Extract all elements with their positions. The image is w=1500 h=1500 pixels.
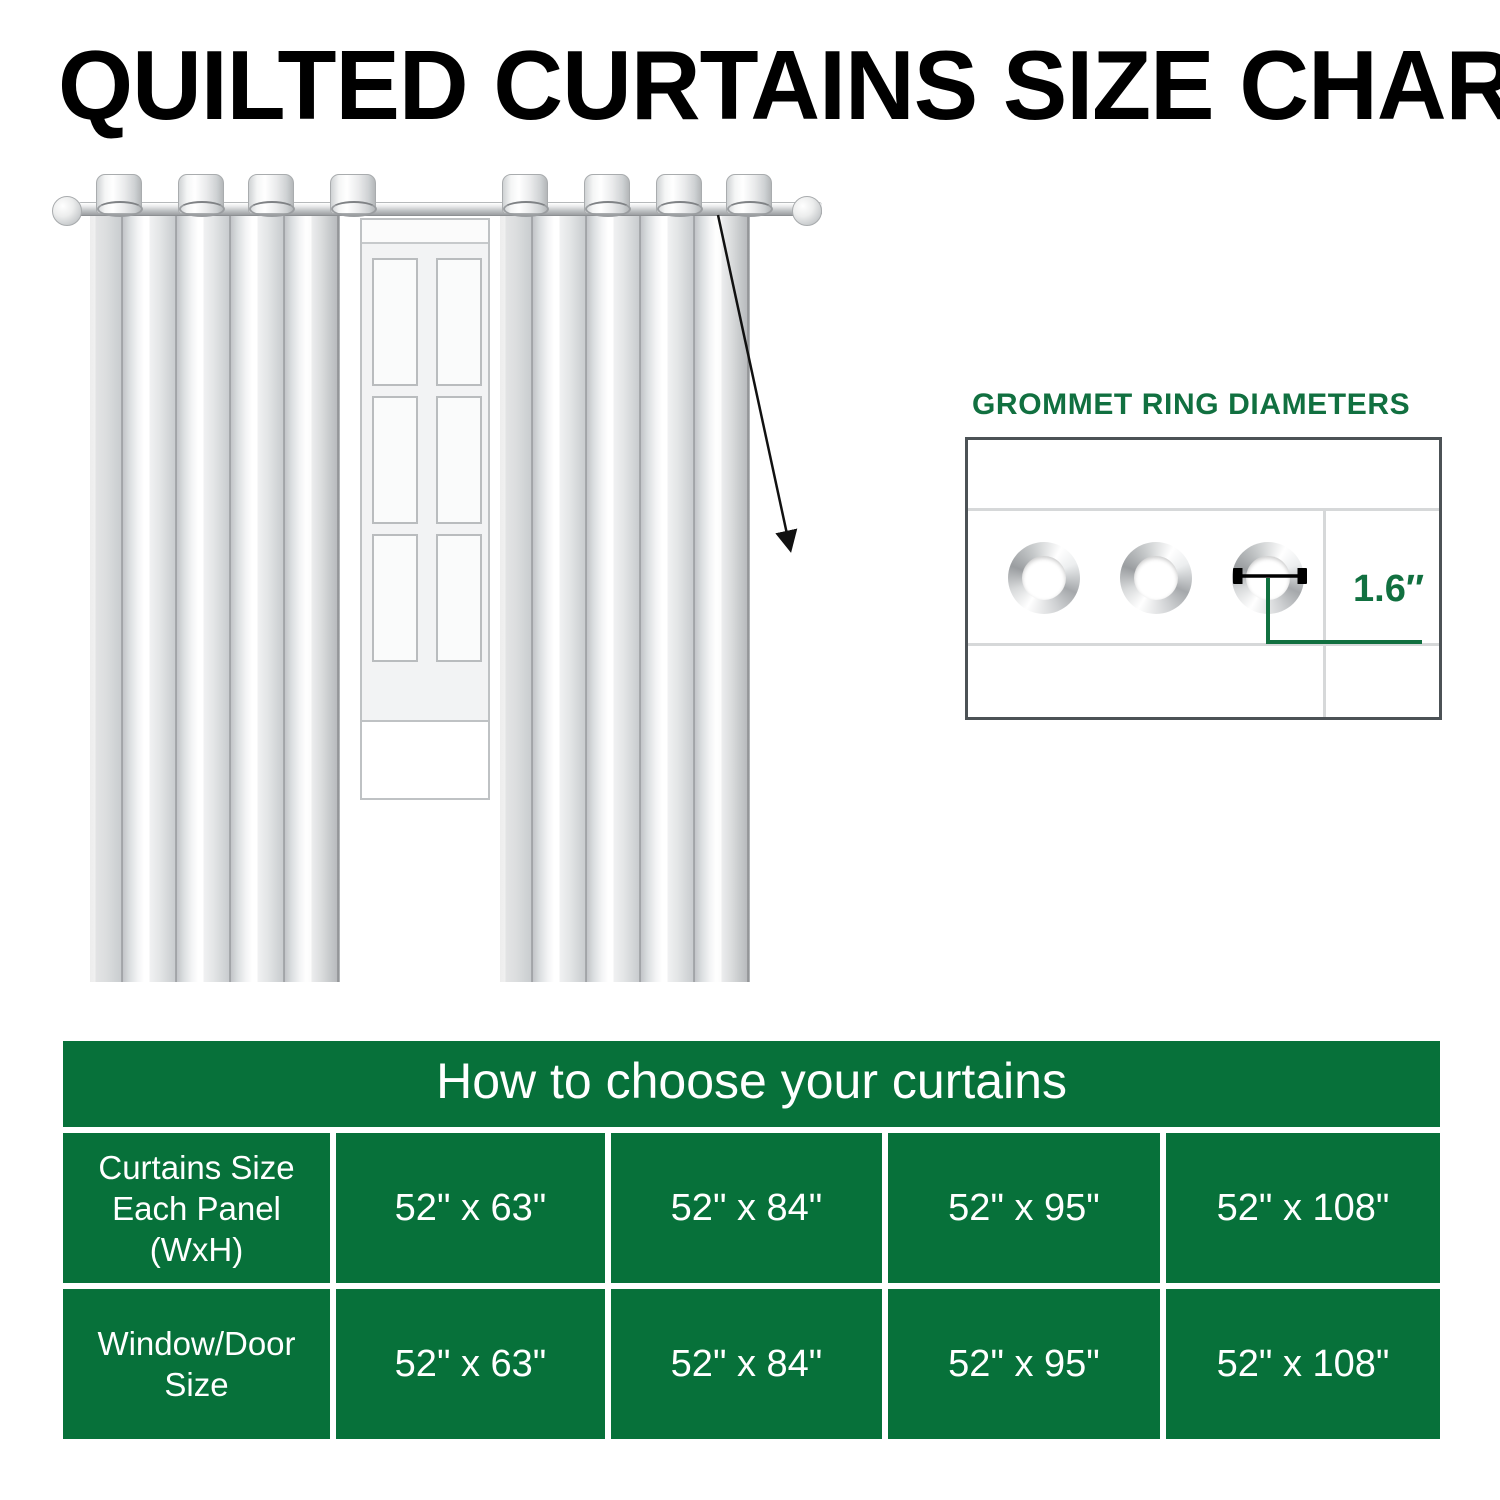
window-pane (372, 534, 418, 662)
grommet-ring-icon (331, 201, 377, 217)
grommet-ring-icon (503, 201, 549, 217)
table-cell: 52" x 84" (608, 1286, 885, 1442)
table-cell: 52" x 108" (1163, 1130, 1443, 1286)
window-sill (362, 720, 488, 798)
panel-edge-line (968, 508, 1439, 511)
grommet-ring-icon (249, 201, 295, 217)
table-cell: 52" x 95" (885, 1286, 1163, 1442)
table-row-window-door-size: Window/Door Size 52" x 63" 52" x 84" 52"… (60, 1286, 1443, 1442)
page-title: QUILTED CURTAINS SIZE CHART (58, 38, 1437, 133)
curtain-fabric (90, 215, 340, 982)
table-header-row: How to choose your curtains (60, 1038, 1443, 1130)
grommet-tab (178, 174, 224, 214)
curtain-fabric (500, 215, 750, 982)
grommet-ring-icon (97, 201, 143, 217)
grommet-tab (96, 174, 142, 214)
window-pane (436, 534, 482, 662)
grommet-ring-icon (179, 201, 225, 217)
window-pane (372, 258, 418, 386)
window-pane (436, 396, 482, 524)
table-cell: 52" x 63" (333, 1286, 608, 1442)
table-cell: 52" x 108" (1163, 1286, 1443, 1442)
table-row-curtain-size: Curtains Size Each Panel (WxH) 52" x 63"… (60, 1130, 1443, 1286)
grommet-ring-icon (585, 201, 631, 217)
grommet-tab (656, 174, 702, 214)
grommet-tab (330, 174, 376, 214)
grommet-tab (502, 174, 548, 214)
row-label-line: Each Panel (69, 1188, 324, 1229)
row-label-line: Size (69, 1364, 324, 1405)
grommet-ring-icon (1008, 542, 1080, 614)
rod-finial-left-icon (52, 196, 82, 226)
grommet-diameter-label: 1.6″ (1353, 568, 1424, 611)
grommet-tab (726, 174, 772, 214)
curtain-panel-left (90, 215, 340, 982)
grommet-section-heading: GROMMET RING DIAMETERS (972, 388, 1410, 422)
window-graphic (360, 218, 490, 800)
row-label-window-door-size: Window/Door Size (60, 1286, 333, 1442)
table-cell: 52" x 95" (885, 1130, 1163, 1286)
window-pane (436, 258, 482, 386)
curtain-panel-right (500, 215, 750, 982)
row-label-line: (WxH) (69, 1229, 324, 1270)
grommet-ring-icon (727, 201, 773, 217)
window-header-bar (362, 220, 488, 244)
table-cell: 52" x 63" (333, 1130, 608, 1286)
table-title-cell: How to choose your curtains (60, 1038, 1443, 1130)
window-pane (372, 396, 418, 524)
row-label-line: Curtains Size (69, 1147, 324, 1188)
grommet-ring-icon (657, 201, 703, 217)
row-label-curtain-size: Curtains Size Each Panel (WxH) (60, 1130, 333, 1286)
curtain-illustration (0, 160, 900, 1020)
grommet-ring-icon (1120, 542, 1192, 614)
grommet-tab (248, 174, 294, 214)
rod-finial-right-icon (792, 196, 822, 226)
grommet-tab (584, 174, 630, 214)
table-cell: 52" x 84" (608, 1130, 885, 1286)
size-chart-table: How to choose your curtains Curtains Siz… (60, 1038, 1443, 1442)
row-label-line: Window/Door (69, 1323, 324, 1364)
size-chart-page: QUILTED CURTAINS SIZE CHART (0, 0, 1500, 1500)
